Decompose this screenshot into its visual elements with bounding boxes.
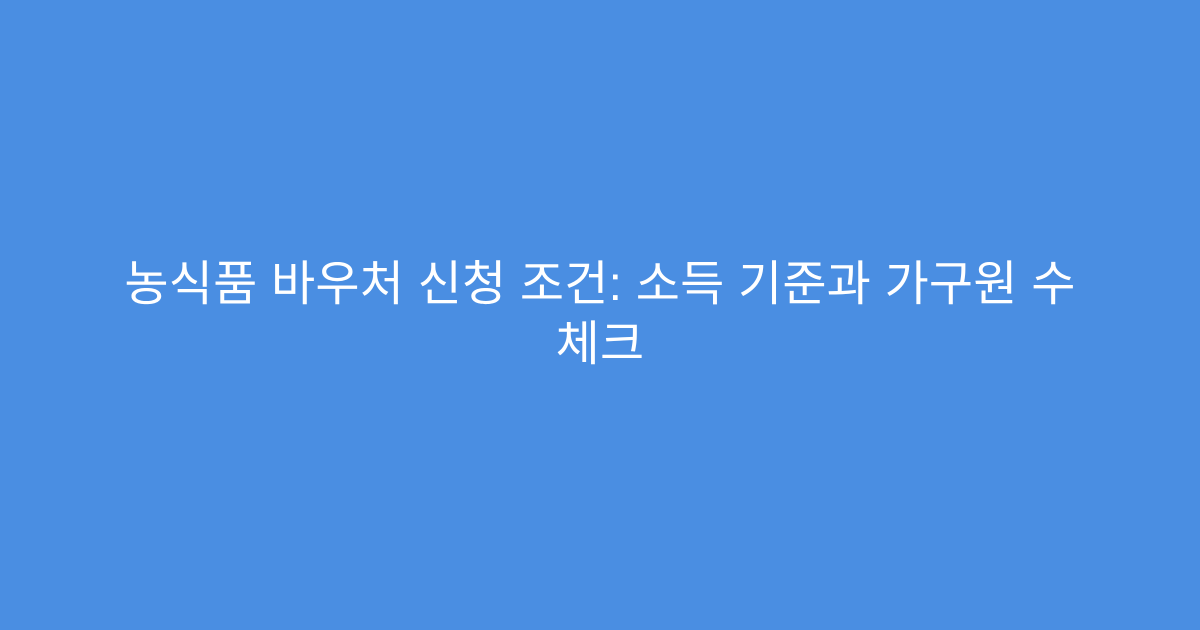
title-block: 농식품 바우처 신청 조건: 소득 기준과 가구원 수 체크 bbox=[80, 255, 1120, 375]
page-title: 농식품 바우처 신청 조건: 소득 기준과 가구원 수 체크 bbox=[80, 255, 1120, 375]
share-card: 농식품 바우처 신청 조건: 소득 기준과 가구원 수 체크 bbox=[0, 0, 1200, 630]
